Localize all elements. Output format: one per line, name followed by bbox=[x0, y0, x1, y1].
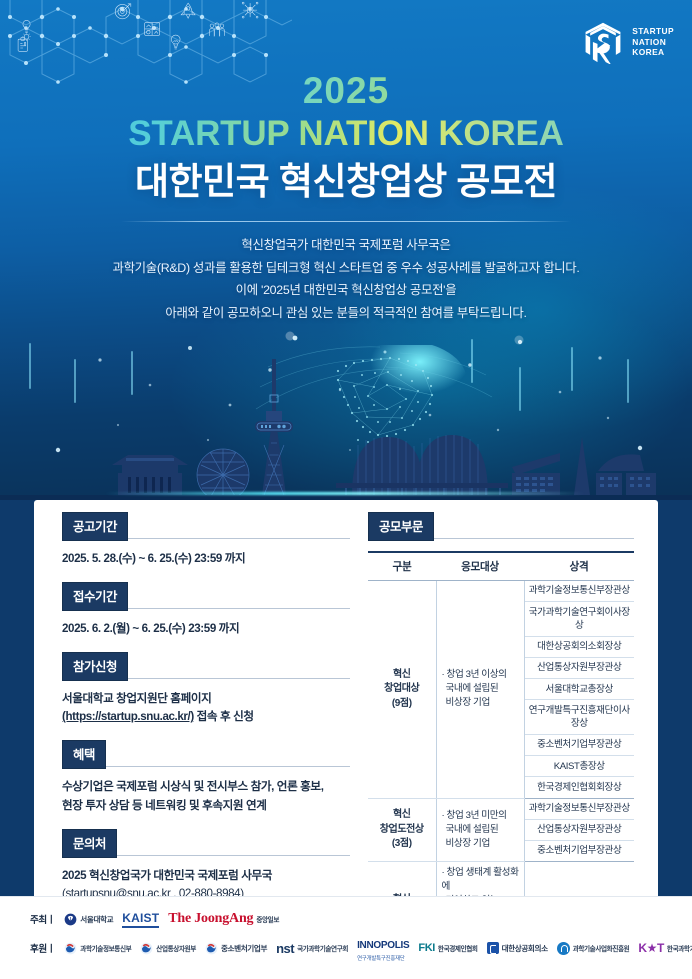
row1-category-line-3: (9점) bbox=[392, 698, 412, 709]
host-joongang-name: The JoongAng bbox=[168, 911, 253, 927]
seoul-skyline-illustration bbox=[0, 325, 692, 500]
footer-sponsors-row: 후원ㅣ 과학기술정보통신부 산업통상자원부 bbox=[0, 931, 692, 965]
competition-heading: 공모부문 bbox=[368, 512, 434, 541]
sponsor-innopolis-sub: 연구개발특구진흥재단 bbox=[357, 954, 409, 962]
column-header-target: 응모대상 bbox=[436, 552, 524, 581]
host-kaist-name: KAIST bbox=[122, 911, 159, 928]
snk-logo-text: STARTUP NATION KOREA bbox=[632, 26, 674, 58]
intro-line-4: 아래와 같이 공모하오니 관심 있는 분들의 적극적인 참여를 부탁드립니다. bbox=[0, 302, 692, 325]
sponsor-innopolis-name: INNOPOLIS bbox=[357, 940, 409, 951]
snk-logo-line2: NATION bbox=[632, 37, 674, 48]
clipboard-chart-icon bbox=[18, 38, 27, 52]
snk-logo: STARTUP NATION KOREA bbox=[581, 20, 674, 64]
sponsor-nst-name: 국가과학기술연구회 bbox=[297, 943, 348, 953]
title-divider bbox=[121, 221, 571, 222]
application-period-value: 2025. 6. 2.(월) ~ 6. 25.(수) 23:59 까지 bbox=[62, 620, 350, 639]
row1-award-9: 한국경제인협회회장상 bbox=[524, 777, 634, 798]
section-benefits: 혜택 수상기업은 국제포럼 시상식 및 전시부스 참가, 언론 홍보, 현장 투… bbox=[62, 740, 350, 816]
sponsor-msit: 과학기술정보통신부 bbox=[64, 942, 131, 955]
row1-target: · 창업 3년 이상의 국내에 설립된 비상장 기업 bbox=[436, 581, 524, 799]
sponsor-fki: FKI 한국경제인협회 bbox=[418, 942, 477, 954]
apply-heading: 참가신청 bbox=[62, 652, 128, 681]
row2-category-line-3: (3점) bbox=[392, 838, 412, 849]
section-notice-period: 공고기간 2025. 5. 28.(수) ~ 6. 25.(수) 23:59 까… bbox=[62, 512, 350, 569]
row2-target-line-1: · 창업 3년 미만의 bbox=[442, 810, 507, 821]
sponsor-kcci-name: 대한상공회의소 bbox=[502, 943, 548, 954]
benefits-line-2: 현장 투자 상담 등 네트워킹 및 후속지원 연계 bbox=[62, 797, 350, 816]
notice-period-head: 공고기간 bbox=[62, 512, 350, 541]
row1-award-7: 중소벤처기업부장관상 bbox=[524, 735, 634, 756]
table-header-row: 구분 응모대상 상격 bbox=[368, 552, 634, 581]
sponsor-motie-name: 산업통상자원부 bbox=[156, 943, 196, 953]
benefits-line-1: 수상기업은 국제포럼 시상식 및 전시부스 참가, 언론 홍보, bbox=[62, 778, 350, 797]
competition-table-head: 구분 응모대상 상격 bbox=[368, 552, 634, 581]
row1-award-8: KAIST총장상 bbox=[524, 756, 634, 777]
hero-year: 2025 bbox=[0, 72, 692, 110]
competition-rule bbox=[434, 538, 634, 539]
application-period-head: 접수기간 bbox=[62, 582, 350, 611]
korea-gov-emblem-icon bbox=[64, 942, 77, 955]
bridge-shape bbox=[336, 435, 508, 495]
row1-category: 혁신 창업대상 (9점) bbox=[368, 581, 436, 799]
snu-seal-icon bbox=[64, 913, 77, 926]
intro-line-1: 혁신창업국가 대한민국 국제포럼 사무국은 bbox=[0, 234, 692, 257]
hero-titles: 2025 STARTUP NATION KOREA 대한민국 혁신창업상 공모전 bbox=[0, 72, 692, 222]
innopolis-wordmark-icon: INNOPOLIS 연구개발특구진흥재단 bbox=[357, 935, 409, 962]
sponsor-fki-name: 한국경제인협회 bbox=[438, 943, 478, 953]
contact-rule bbox=[117, 855, 350, 856]
sponsor-mss: 중소벤처기업부 bbox=[205, 942, 267, 955]
benefits-heading: 혜택 bbox=[62, 740, 106, 769]
card-left-column: 공고기간 2025. 5. 28.(수) ~ 6. 25.(수) 23:59 까… bbox=[62, 512, 350, 935]
row1-award-3: 대한상공회의소회장상 bbox=[524, 636, 634, 657]
n-seoul-tower-shape bbox=[255, 359, 293, 495]
sponsor-compa: 과학기술사업화진흥원 bbox=[557, 942, 630, 955]
sponsor-nst: nst 국가과학기술연구회 bbox=[276, 941, 348, 956]
korea-gov-emblem-icon bbox=[140, 942, 153, 955]
row2-target-line-3: 비상장 기업 bbox=[442, 838, 490, 849]
row2-target-line-2: 국내에 설립된 bbox=[442, 824, 499, 835]
row1-award-5: 서울대학교총장상 bbox=[524, 679, 634, 700]
sponsor-motie: 산업통상자원부 bbox=[140, 942, 196, 955]
row1-target-line-1: · 창업 3년 이상의 bbox=[442, 669, 507, 680]
nst-wordmark-icon: nst bbox=[276, 941, 294, 956]
contact-head: 문의처 bbox=[62, 829, 350, 858]
row2-award-3: 중소벤처기업부장관상 bbox=[524, 841, 634, 862]
application-period-heading: 접수기간 bbox=[62, 582, 128, 611]
benefits-head: 혜택 bbox=[62, 740, 350, 769]
application-period-rule bbox=[128, 608, 350, 609]
sponsor-compa-name: 과학기술사업화진흥원 bbox=[573, 943, 630, 953]
apply-line-2: (https://startup.snu.ac.kr/) 접속 후 신청 bbox=[62, 708, 350, 727]
row1-award-6: 연구개발특구진흥재단이사장상 bbox=[524, 700, 634, 735]
sponsor-mss-name: 중소벤처기업부 bbox=[221, 943, 267, 954]
footer-logos: 주최ㅣ 서울대학교 KAIST The JoongAng 중앙일보 후원ㅣ bbox=[0, 896, 692, 979]
row2-target: · 창업 3년 미만의 국내에 설립된 비상장 기업 bbox=[436, 798, 524, 862]
host-label: 주최ㅣ bbox=[30, 912, 55, 926]
table-row: 혁신 창업도전상 (3점) · 창업 3년 미만의 국내에 설립된 비상장 기업… bbox=[368, 798, 634, 819]
apply-url-suffix: 접속 후 신청 bbox=[194, 710, 254, 723]
sponsor-msit-name: 과학기술정보통신부 bbox=[80, 943, 131, 953]
apply-url[interactable]: (https://startup.snu.ac.kr/) bbox=[62, 710, 194, 723]
sponsor-innopolis: INNOPOLIS 연구개발특구진흥재단 bbox=[357, 935, 409, 962]
row2-category: 혁신 창업도전상 (3점) bbox=[368, 798, 436, 862]
korea-gov-emblem-icon bbox=[205, 942, 218, 955]
footer-hosts-row: 주최ㅣ 서울대학교 KAIST The JoongAng 중앙일보 bbox=[0, 897, 692, 931]
snk-cube-logo-icon bbox=[581, 20, 625, 64]
host-snu: 서울대학교 bbox=[64, 913, 113, 926]
sponsor-kcci: 대한상공회의소 bbox=[487, 942, 548, 954]
fki-wordmark-icon: FKI bbox=[418, 942, 435, 954]
sponsor-kst-name: 한국과학기술지주 bbox=[667, 943, 692, 953]
row1-target-line-2: 국내에 설립된 bbox=[442, 683, 499, 694]
apply-line-1: 서울대학교 창업지원단 홈페이지 bbox=[62, 690, 350, 709]
row2-award-2: 산업통상자원부장관상 bbox=[524, 819, 634, 840]
host-joongang: The JoongAng 중앙일보 bbox=[168, 911, 279, 927]
notice-period-value: 2025. 5. 28.(수) ~ 6. 25.(수) 23:59 까지 bbox=[62, 550, 350, 569]
host-kaist: KAIST bbox=[122, 911, 159, 928]
column-header-award: 상격 bbox=[524, 552, 634, 581]
dashboard-chart-icon bbox=[145, 23, 160, 36]
hero-background: STARTUP NATION KOREA 2025 STARTUP NATION… bbox=[0, 0, 692, 500]
palace-gate-shape bbox=[112, 455, 188, 495]
hero-intro: 혁신창업국가 대한민국 국제포럼 사무국은 과학기술(R&D) 성과를 활용한 … bbox=[0, 234, 692, 324]
benefits-body: 수상기업은 국제포럼 시상식 및 전시부스 참가, 언론 홍보, 현장 투자 상… bbox=[62, 778, 350, 816]
apply-body: 서울대학교 창업지원단 홈페이지 (https://startup.snu.ac… bbox=[62, 690, 350, 728]
row1-target-line-3: 비상장 기업 bbox=[442, 697, 490, 708]
row1-award-1: 과학기술정보통신부장관상 bbox=[524, 581, 634, 602]
row2-category-line-1: 혁신 bbox=[393, 809, 411, 820]
kcci-emblem-icon bbox=[487, 942, 499, 954]
row1-award-4: 산업통상자원부장관상 bbox=[524, 658, 634, 679]
notice-period-rule bbox=[128, 538, 350, 539]
row3-target-line-1: · 창업 생태계 활성화에 bbox=[442, 867, 519, 892]
sponsor-label: 후원ㅣ bbox=[30, 941, 55, 955]
table-row: 혁신 창업대상 (9점) · 창업 3년 이상의 국내에 설립된 비상장 기업 … bbox=[368, 581, 634, 602]
buildings-shape bbox=[512, 437, 656, 495]
contact-line-1: 2025 혁신창업국가 대한민국 국제포럼 사무국 bbox=[62, 867, 350, 886]
column-header-category: 구분 bbox=[368, 552, 436, 581]
row2-award-1: 과학기술정보통신부장관상 bbox=[524, 798, 634, 819]
intro-line-2: 과학기술(R&D) 성과를 활용한 딥테크형 혁신 스타트업 중 우수 성공사례… bbox=[0, 257, 692, 280]
poster-root: STARTUP NATION KOREA 2025 STARTUP NATION… bbox=[0, 0, 692, 979]
snk-logo-line1: STARTUP bbox=[632, 26, 674, 37]
section-application-period: 접수기간 2025. 6. 2.(월) ~ 6. 25.(수) 23:59 까지 bbox=[62, 582, 350, 639]
sponsor-kst: K★T 한국과학기술지주 bbox=[638, 941, 692, 955]
section-apply: 참가신청 서울대학교 창업지원단 홈페이지 (https://startup.s… bbox=[62, 652, 350, 728]
host-joongang-sub: 중앙일보 bbox=[256, 914, 279, 924]
benefits-rule bbox=[106, 766, 350, 767]
hero-title-en: STARTUP NATION KOREA bbox=[0, 116, 692, 153]
row1-award-2: 국가과학기술연구회이사장상 bbox=[524, 602, 634, 637]
row1-category-line-1: 혁신 bbox=[393, 669, 411, 680]
contact-heading: 문의처 bbox=[62, 829, 117, 858]
kst-wordmark-icon: K★T bbox=[638, 941, 664, 955]
snk-logo-line3: KOREA bbox=[632, 47, 674, 58]
host-snu-name: 서울대학교 bbox=[80, 914, 113, 925]
horizon-glow bbox=[105, 492, 585, 495]
intro-line-3: 이에 '2025년 대한민국 혁신창업상 공모전'을 bbox=[0, 279, 692, 302]
row2-category-line-2: 창업도전상 bbox=[380, 824, 424, 835]
competition-head: 공모부문 bbox=[368, 512, 634, 541]
info-card: 공고기간 2025. 5. 28.(수) ~ 6. 25.(수) 23:59 까… bbox=[34, 500, 658, 896]
hero-title-kr: 대한민국 혁신창업상 공모전 bbox=[0, 161, 692, 202]
notice-period-heading: 공고기간 bbox=[62, 512, 128, 541]
apply-head: 참가신청 bbox=[62, 652, 350, 681]
compa-emblem-icon bbox=[557, 942, 570, 955]
row1-category-line-2: 창업대상 bbox=[384, 683, 419, 694]
apply-rule bbox=[128, 678, 350, 679]
